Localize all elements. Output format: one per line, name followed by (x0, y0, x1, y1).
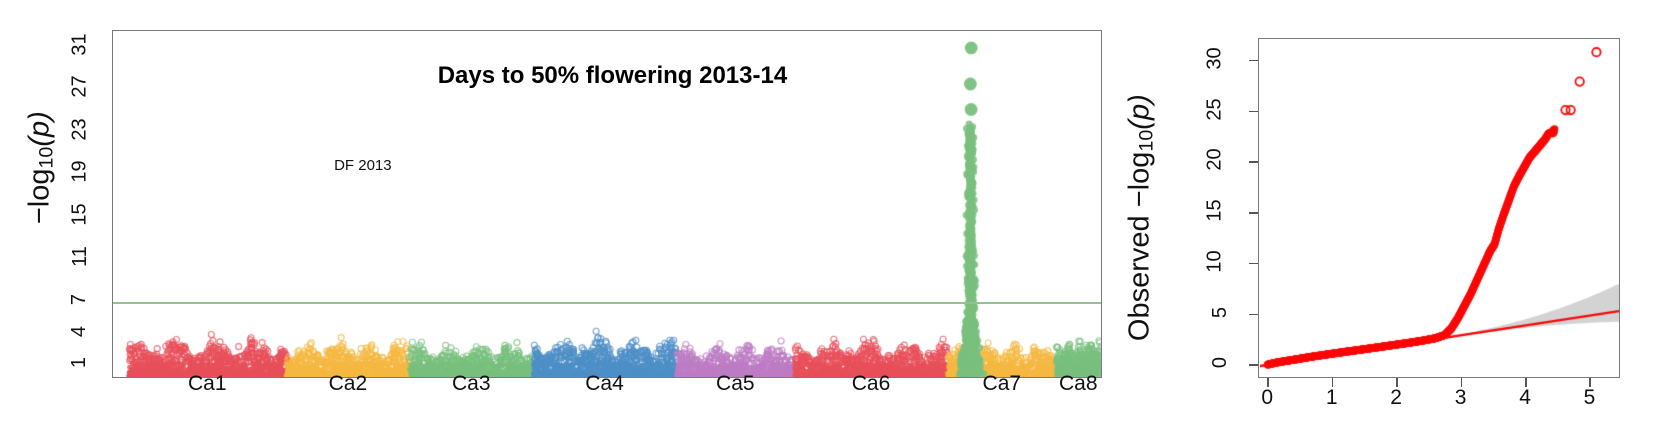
qq-y-tickmark-30 (1249, 60, 1258, 62)
manhattan-y-tick-11: 11 (56, 245, 104, 268)
qq-y-tickmark-20 (1249, 161, 1258, 163)
significance-threshold-line (113, 302, 1101, 304)
manhattan-y-tick-15: 15 (56, 203, 104, 226)
qq-x-tick-3: 3 (1446, 386, 1476, 410)
gwas-figure: −log10(p) 147111519232731 Days to 50% fl… (0, 0, 1670, 434)
qq-y-axis-sub: 10 (1136, 130, 1158, 152)
qq-y-tick-30: 30 (1186, 47, 1226, 70)
qq-y-tickmark-25 (1249, 111, 1258, 113)
qq-x-tick-0: 0 (1252, 386, 1282, 410)
qq-x-tickmark-1 (1332, 378, 1334, 387)
qq-y-tick-5: 5 (1186, 301, 1226, 324)
manhattan-y-axis-suffix: (p) (23, 111, 55, 146)
manhattan-y-tick-7: 7 (56, 288, 104, 311)
qq-x-tick-2: 2 (1381, 386, 1411, 410)
qq-y-axis-prefix: Observed −log (1123, 152, 1155, 341)
manhattan-y-tick-19: 19 (56, 160, 104, 183)
qq-y-tick-0: 0 (1186, 351, 1226, 374)
manhattan-y-tick-27: 27 (56, 75, 104, 98)
qq-x-tickmark-2 (1396, 378, 1398, 387)
manhattan-y-axis-prefix: −log (23, 169, 55, 225)
qq-y-tick-15: 15 (1186, 199, 1226, 222)
manhattan-plot-title: Days to 50% flowering 2013-14 (438, 62, 787, 90)
manhattan-x-tick-ca2: Ca2 (308, 372, 388, 396)
qq-scatter-canvas (1260, 40, 1619, 377)
qq-y-tickmark-15 (1249, 212, 1258, 214)
manhattan-y-tick-labels: 147111519232731 (56, 0, 104, 434)
qq-x-tick-4: 4 (1510, 386, 1540, 410)
qq-y-tick-20: 20 (1186, 148, 1226, 171)
qq-x-tick-1: 1 (1317, 386, 1347, 410)
qq-y-tick-10: 10 (1186, 250, 1226, 273)
qq-y-tickmark-5 (1249, 314, 1258, 316)
manhattan-x-tick-ca8: Ca8 (1038, 372, 1118, 396)
qq-y-tick-25: 25 (1186, 98, 1226, 121)
manhattan-y-tick-31: 31 (56, 33, 104, 56)
trait-annotation-label: DF 2013 (334, 157, 392, 174)
manhattan-x-tick-ca5: Ca5 (695, 372, 775, 396)
qq-x-tickmark-3 (1461, 378, 1463, 387)
manhattan-y-tick-23: 23 (56, 118, 104, 141)
manhattan-x-tick-ca3: Ca3 (431, 372, 511, 396)
manhattan-x-tick-ca7: Ca7 (962, 372, 1042, 396)
qq-x-tickmark-5 (1589, 378, 1591, 387)
manhattan-y-axis-sub: 10 (36, 147, 58, 169)
qq-x-tickmark-4 (1525, 378, 1527, 387)
qq-x-tickmark-0 (1267, 378, 1269, 387)
manhattan-x-tick-ca4: Ca4 (565, 372, 645, 396)
qq-data-area (1260, 40, 1619, 377)
manhattan-x-tick-ca6: Ca6 (831, 372, 911, 396)
qq-x-tick-5: 5 (1574, 386, 1604, 410)
manhattan-y-tick-4: 4 (56, 320, 104, 343)
manhattan-x-tick-ca1: Ca1 (167, 372, 247, 396)
qq-y-axis-title: Observed −log10(p) (1118, 0, 1164, 420)
qq-y-axis-suffix: (p) (1123, 94, 1155, 129)
qq-y-tickmark-10 (1249, 263, 1258, 265)
qq-y-tickmark-0 (1249, 364, 1258, 366)
manhattan-y-tick-1: 1 (56, 351, 104, 374)
